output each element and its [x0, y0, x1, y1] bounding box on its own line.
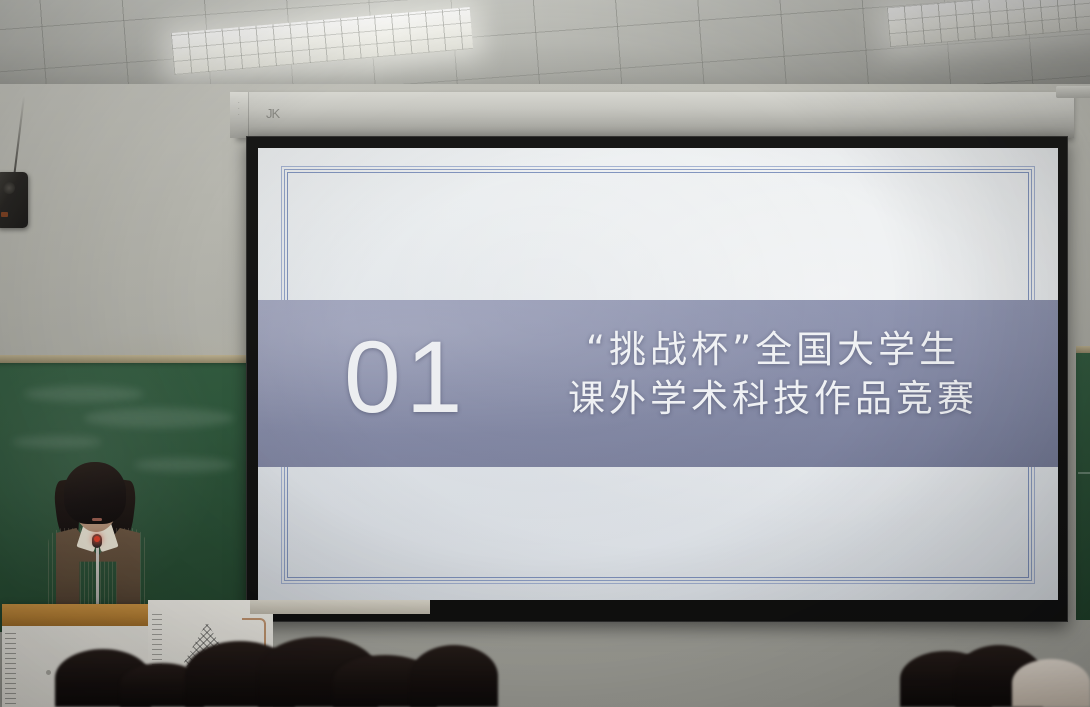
slide-title: “挑战杯”全国大学生 课外学术科技作品竞赛	[538, 326, 1008, 424]
chalk-rail	[0, 355, 248, 363]
audience-head	[410, 645, 498, 707]
housing-brand-mark: JK	[266, 106, 279, 121]
podium-vent-grille	[5, 632, 16, 704]
presenter	[40, 462, 160, 608]
projector-screen-frame: 01 “挑战杯”全国大学生 课外学术科技作品竞赛	[246, 136, 1068, 622]
housing-bracket	[1056, 86, 1090, 98]
ceiling-shading	[0, 0, 1090, 96]
podium-wooden-top	[2, 604, 148, 626]
speaker-driver-icon	[3, 182, 15, 194]
slide-title-band: 01 “挑战杯”全国大学生 课外学术科技作品竞赛	[258, 300, 1058, 467]
front-desk-edge	[250, 600, 430, 614]
lecture-hall-photo: ··· JK 01 “挑战杯”全国大学生 课外学术科技作品竞赛	[0, 0, 1090, 707]
projector-screen-housing: ··· JK	[236, 92, 1074, 138]
slide-title-line-2: 课外学术科技作品竞赛	[538, 375, 1008, 424]
slide-title-line-1: “挑战杯”全国大学生	[538, 326, 1008, 375]
chalk-rail	[1076, 346, 1090, 353]
ceiling	[0, 0, 1090, 96]
chalk-writing	[1078, 472, 1090, 552]
projected-slide[interactable]: 01 “挑战杯”全国大学生 课外学术科技作品竞赛	[258, 148, 1058, 600]
presenter-mouth	[92, 518, 102, 521]
chalk-smudge	[84, 408, 234, 428]
slide-section-number: 01	[344, 326, 467, 428]
presenter-hair	[64, 462, 126, 524]
housing-label-plate: ···	[238, 100, 240, 118]
podium-knob	[46, 670, 51, 675]
speaker-indicator-icon	[1, 212, 8, 217]
audience-head	[1012, 659, 1090, 707]
wall-speaker	[0, 172, 28, 228]
chalk-smudge	[12, 436, 102, 448]
microphone-led-icon	[94, 536, 100, 542]
chalk-smudge	[24, 386, 144, 402]
chalkboard-right	[1076, 352, 1090, 620]
